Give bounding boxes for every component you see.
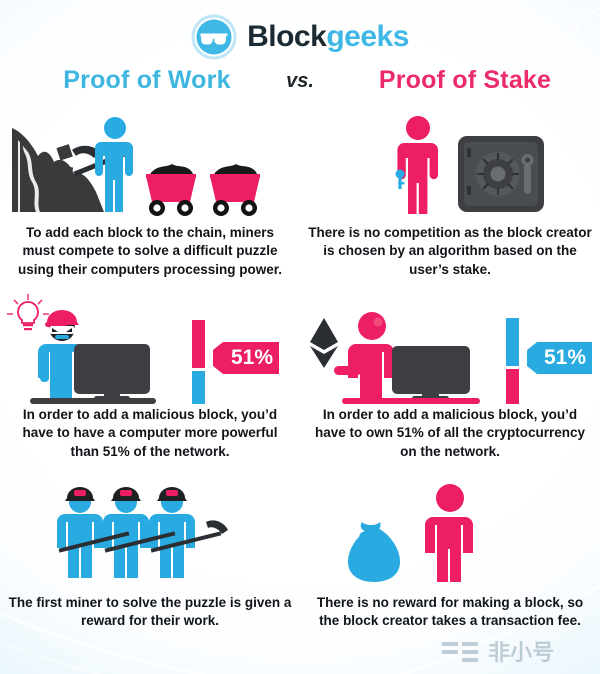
comparison-row-1: To add each block to the chain, miners m… [0, 108, 600, 288]
row2-left-badge-text: 51% [231, 346, 273, 369]
heading-versus: vs. [265, 70, 335, 93]
row3-left-caption: The first miner to solve the puzzle is g… [8, 594, 292, 631]
ethereum-user-computer-bar-illustration: 51% [300, 292, 600, 404]
blockgeeks-glasses-face-icon [191, 14, 237, 60]
row1-left-caption: To add each block to the chain, miners m… [8, 224, 292, 279]
money-bag-person-illustration [300, 476, 600, 588]
row2-right-cell: 51% In order to add a malicious block, y… [300, 292, 600, 472]
brand-name-part2: geeks [326, 20, 409, 53]
column-headings: Proof of Work vs. Proof of Stake [0, 66, 600, 110]
row2-left-cell: 51% In order to add a malicious block, y… [0, 292, 300, 472]
row3-right-caption: There is no reward for making a block, s… [308, 594, 592, 631]
row1-right-cell: There is no competition as the block cre… [300, 108, 600, 288]
row2-left-caption: In order to add a malicious block, you’d… [8, 406, 292, 461]
miner-pickaxe-rock-carts-illustration [0, 108, 300, 220]
row1-left-cell: To add each block to the chain, miners m… [0, 108, 300, 288]
heading-proof-of-stake: Proof of Stake [340, 66, 590, 95]
comparison-row-3: The first miner to solve the puzzle is g… [0, 476, 600, 666]
brand-name-part1: Block [247, 20, 326, 53]
brand-name: Blockgeeks [247, 22, 409, 52]
three-miners-illustration [0, 476, 300, 588]
hacker-computer-bar-illustration: 51% [0, 292, 300, 404]
row2-right-caption: In order to add a malicious block, you’d… [308, 406, 592, 461]
row3-left-cell: The first miner to solve the puzzle is g… [0, 476, 300, 666]
heading-proof-of-work: Proof of Work [22, 66, 272, 95]
comparison-row-2: 51% In order to add a malicious block, y… [0, 292, 600, 472]
brand-header: Blockgeeks [0, 12, 600, 62]
row1-right-caption: There is no competition as the block cre… [308, 224, 592, 279]
infographic-canvas: Blockgeeks Proof of Work vs. Proof of St… [0, 0, 600, 674]
person-key-safe-illustration [300, 108, 600, 220]
row3-right-cell: There is no reward for making a block, s… [300, 476, 600, 666]
row2-right-badge-text: 51% [544, 346, 586, 369]
